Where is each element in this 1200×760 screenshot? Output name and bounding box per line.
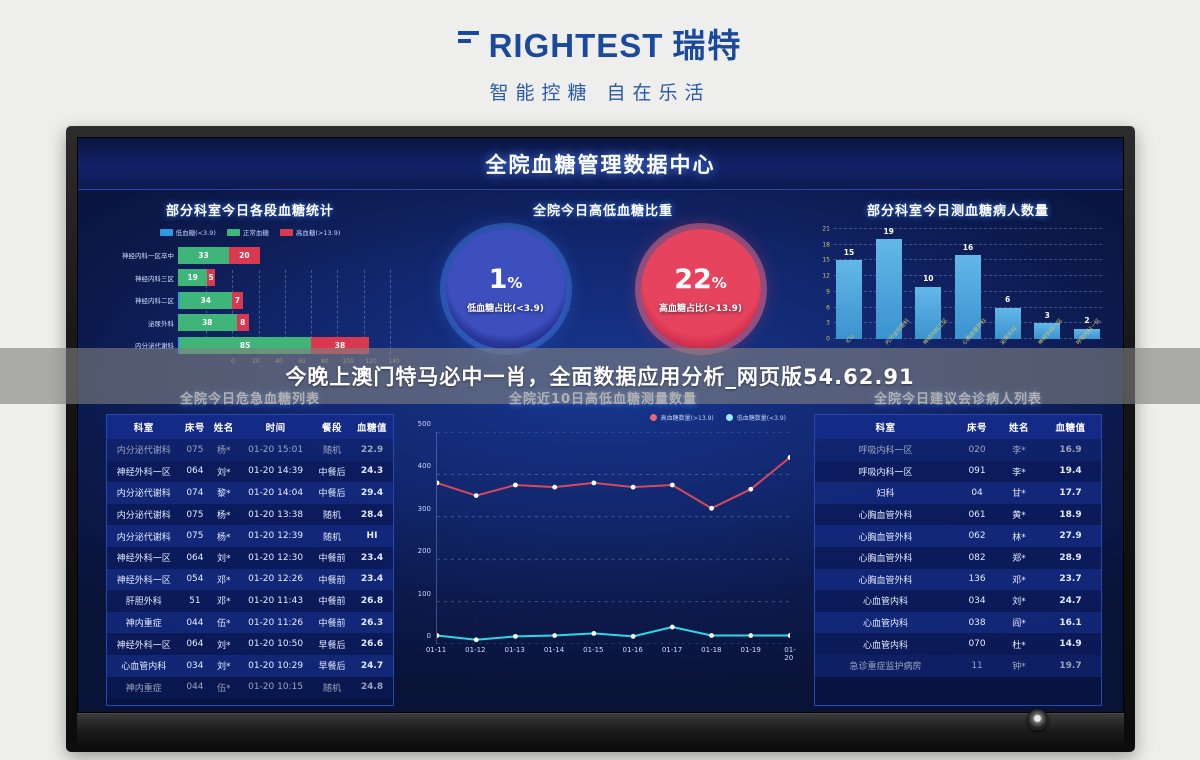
table-cell-meal: 中餐前 xyxy=(313,547,351,569)
table-cell-name: 伍* xyxy=(209,677,238,699)
table-row[interactable]: 内分泌代谢科075杨*01-20 15:01随机22.9 xyxy=(107,439,393,461)
yaxis-tick: 12 xyxy=(822,273,830,280)
line-data-point xyxy=(631,634,636,639)
table-row[interactable]: 神内重症044伍*01-20 11:26中餐前26.3 xyxy=(107,612,393,634)
table-cell-time: 01-20 13:38 xyxy=(238,504,313,526)
bar-value-label: 19 xyxy=(883,227,893,236)
bar-row: 泌尿外科388 xyxy=(106,314,394,332)
line-data-point xyxy=(591,631,596,636)
table-cell-bed: 082 xyxy=(956,547,998,569)
table-cell-value: 24.8 xyxy=(351,677,393,699)
table-cell-value: 23.7 xyxy=(1040,569,1101,591)
table-cell-time: 01-20 10:29 xyxy=(238,655,313,677)
critical-table: 科室床号姓名时间餐段血糖值 内分泌代谢科075杨*01-20 15:01随机22… xyxy=(107,415,393,698)
table-cell-name: 伍* xyxy=(209,612,238,634)
table-cell-meal: 中餐后 xyxy=(313,482,351,504)
table-cell-meal: 中餐前 xyxy=(313,590,351,612)
dashboard-header: 全院血糖管理数据中心 xyxy=(78,138,1123,190)
yaxis-tick: 0 xyxy=(826,336,830,343)
donut-wrapper: 1%低血糖占比(<3.9) xyxy=(446,229,566,349)
table-cell-name: 杜* xyxy=(998,633,1040,655)
watermark-text: 今晚上澳门特马必中一肖，全面数据应用分析_网页版54.62.91 xyxy=(285,361,914,391)
table-cell-time: 01-20 12:39 xyxy=(238,525,313,547)
bar-segment-high: 5 xyxy=(207,269,215,286)
xaxis-tick: 01-11 xyxy=(426,646,446,654)
yaxis-tick: 500 xyxy=(418,420,431,428)
table-row[interactable]: 内分泌代谢科075杨*01-20 13:38随机28.4 xyxy=(107,504,393,526)
table-cell-time: 01-20 12:30 xyxy=(238,547,313,569)
table-row[interactable]: 心血管内科070杜*14.9 xyxy=(815,633,1101,655)
bar-column: 15 xyxy=(836,229,862,339)
table-cell-value: 26.8 xyxy=(351,590,393,612)
table-cell-dept: 内分泌代谢科 xyxy=(107,525,180,547)
bar-segment-normal: 33 xyxy=(178,247,229,264)
table-cell-bed: 074 xyxy=(180,482,209,504)
table-cell-time: 01-20 10:50 xyxy=(238,633,313,655)
table-cell-dept: 肝胆外科 xyxy=(107,590,180,612)
table-row[interactable]: 神经外科一区064刘*01-20 12:30中餐前23.4 xyxy=(107,547,393,569)
dashboard-root: 全院血糖管理数据中心 部分科室今日各段血糖统计 低血糖(<3.9)正常血糖高血糖… xyxy=(78,138,1123,712)
table-cell-meal: 随机 xyxy=(313,677,351,699)
legend-swatch-icon xyxy=(160,229,173,236)
table-cell-value: 16.1 xyxy=(1040,612,1101,634)
consult-table-body: 呼吸内科一区020李*16.9呼吸内科一区091李*19.4妇科04甘*17.7… xyxy=(815,439,1101,677)
table-cell-bed: 136 xyxy=(956,569,998,591)
table-cell-value: 19.4 xyxy=(1040,461,1101,483)
brand-name-cn: 瑞特 xyxy=(672,19,742,67)
table-cell-bed: 054 xyxy=(180,569,209,591)
table-cell-dept: 神内重症 xyxy=(107,677,180,699)
bar-track: 388 xyxy=(178,314,394,331)
line-chart-area xyxy=(436,432,790,644)
table-cell-bed: 044 xyxy=(180,677,209,699)
table-cell-value: 29.4 xyxy=(351,482,393,504)
line-data-point xyxy=(748,633,753,638)
line-data-point xyxy=(552,633,557,638)
table-cell-dept: 神内重症 xyxy=(107,612,180,634)
table-cell-value: 23.4 xyxy=(351,547,393,569)
rightest-logo-icon xyxy=(458,23,480,57)
table-cell-dept: 心血管内科 xyxy=(107,655,180,677)
table-cell-bed: 034 xyxy=(180,655,209,677)
table-cell-dept: 妇科 xyxy=(815,482,956,504)
watermark-overlay-banner: 今晚上澳门特马必中一肖，全面数据应用分析_网页版54.62.91 xyxy=(0,348,1200,404)
table-cell-bed: 51 xyxy=(180,590,209,612)
table-column-header: 餐段 xyxy=(313,415,351,439)
table-row[interactable]: 心血管内科038阎*16.1 xyxy=(815,612,1101,634)
table-cell-meal: 中餐后 xyxy=(313,461,351,483)
tv-screen: 全院血糖管理数据中心 部分科室今日各段血糖统计 低血糖(<3.9)正常血糖高血糖… xyxy=(77,137,1124,713)
table-cell-bed: 064 xyxy=(180,633,209,655)
xaxis-tick: 01-20 xyxy=(784,646,795,662)
consult-table-scroll[interactable]: 科室床号姓名血糖值 呼吸内科一区020李*16.9呼吸内科一区091李*19.4… xyxy=(814,414,1102,706)
table-cell-dept: 神经外科一区 xyxy=(107,461,180,483)
table-cell-dept: 心血管内科 xyxy=(815,633,956,655)
table-row[interactable]: 心胸血管外科061黄*18.9 xyxy=(815,504,1101,526)
tv-bottom-bezel xyxy=(77,713,1124,751)
table-cell-name: 杨* xyxy=(209,504,238,526)
table-cell-bed: 034 xyxy=(956,590,998,612)
table-cell-value: 28.4 xyxy=(351,504,393,526)
yaxis-tick: 200 xyxy=(418,547,431,555)
table-cell-time: 01-20 15:01 xyxy=(238,439,313,461)
line-yaxis: 0100200300400500 xyxy=(408,432,434,644)
table-cell-time: 01-20 10:15 xyxy=(238,677,313,699)
table-cell-value: 28.9 xyxy=(1040,547,1101,569)
table-row[interactable]: 神经外科一区064刘*01-20 14:39中餐后24.3 xyxy=(107,461,393,483)
table-row[interactable]: 呼吸内科一区091李*19.4 xyxy=(815,461,1101,483)
yaxis-tick: 300 xyxy=(418,505,431,513)
bar-segment-high: 7 xyxy=(232,292,243,309)
table-cell-meal: 中餐前 xyxy=(313,612,351,634)
table-cell-name: 钟* xyxy=(998,655,1040,677)
line-data-point xyxy=(474,493,479,498)
panel-title-donut: 全院今日高低血糖比重 xyxy=(408,200,798,219)
right-bar-yaxis: 036912151821 xyxy=(814,229,832,339)
table-cell-dept: 心胸血管外科 xyxy=(815,525,956,547)
table-cell-name: 阎* xyxy=(998,612,1040,634)
table-cell-dept: 呼吸内科一区 xyxy=(815,461,956,483)
bar-column: 6 xyxy=(995,229,1021,339)
left-bar-legend: 低血糖(<3.9)正常血糖高血糖(>13.9) xyxy=(106,227,394,237)
line-data-point xyxy=(670,625,675,630)
table-cell-name: 杨* xyxy=(209,439,238,461)
table-cell-meal: 随机 xyxy=(313,504,351,526)
line-data-point xyxy=(591,480,596,485)
line-data-point xyxy=(437,633,439,638)
table-column-header: 血糖值 xyxy=(1040,415,1101,439)
line-data-point xyxy=(631,485,636,490)
bar-category-label: 神经内科一区卒中 xyxy=(106,250,178,260)
table-column-header: 姓名 xyxy=(209,415,238,439)
table-cell-bed: 075 xyxy=(180,525,209,547)
bar-track: 3320 xyxy=(178,247,394,264)
table-cell-value: 27.9 xyxy=(1040,525,1101,547)
table-row[interactable]: 呼吸内科一区020李*16.9 xyxy=(815,439,1101,461)
panel-department-glucose-stages: 部分科室今日各段血糖统计 低血糖(<3.9)正常血糖高血糖(>13.9) 神经内… xyxy=(106,200,394,372)
table-cell-dept: 心胸血管外科 xyxy=(815,547,956,569)
table-column-header: 姓名 xyxy=(998,415,1040,439)
table-cell-dept: 呼吸内科一区 xyxy=(815,439,956,461)
table-cell-value: 19.7 xyxy=(1040,655,1101,677)
table-cell-name: 刘* xyxy=(209,547,238,569)
table-cell-bed: 11 xyxy=(956,655,998,677)
donut-group: 1%低血糖占比(<3.9)22%高血糖占比(>13.9) xyxy=(408,229,798,349)
critical-table-body: 内分泌代谢科075杨*01-20 15:01随机22.9神经外科一区064刘*0… xyxy=(107,439,393,698)
bar-segment-normal: 38 xyxy=(178,314,237,331)
bar-category-label: 泌尿外科 xyxy=(106,318,178,328)
power-indicator-icon xyxy=(1027,709,1048,730)
legend-label: 高血糖(>13.9) xyxy=(296,227,341,237)
legend-swatch-icon xyxy=(280,229,293,236)
yaxis-tick: 0 xyxy=(427,632,431,640)
table-cell-value: 17.7 xyxy=(1040,482,1101,504)
table-row[interactable]: 肝胆外科51邓*01-20 11:43中餐前26.8 xyxy=(107,590,393,612)
line-data-point xyxy=(748,487,753,492)
table-row[interactable]: 心血管内科034刘*01-20 10:29早餐后24.7 xyxy=(107,655,393,677)
table-cell-dept: 心胸血管外科 xyxy=(815,504,956,526)
yaxis-tick: 21 xyxy=(822,226,830,233)
panel-glucose-ratio: 全院今日高低血糖比重 1%低血糖占比(<3.9)22%高血糖占比(>13.9) xyxy=(408,200,798,372)
line-xaxis: 01-1101-1201-1301-1401-1501-1601-1701-18… xyxy=(436,646,790,662)
donut-caption: 高血糖占比(>13.9) xyxy=(659,301,742,314)
table-cell-name: 邓* xyxy=(209,590,238,612)
yaxis-tick: 15 xyxy=(822,257,830,264)
legend-label: 正常血糖 xyxy=(243,227,269,237)
panel-10day-trend: 全院近10日高低血糖测量数量 高血糖数量(>13.9)低血糖数量(<3.9) 0… xyxy=(408,388,798,708)
table-row[interactable]: 神内重症044伍*01-20 10:15随机24.8 xyxy=(107,677,393,699)
table-column-header: 床号 xyxy=(956,415,998,439)
table-cell-dept: 内分泌代谢科 xyxy=(107,482,180,504)
table-cell-value: 24.7 xyxy=(351,655,393,677)
table-cell-dept: 内分泌代谢科 xyxy=(107,504,180,526)
donut-value: 22% xyxy=(674,264,727,295)
table-cell-value: 16.9 xyxy=(1040,439,1101,461)
table-cell-dept: 神经外科一区 xyxy=(107,547,180,569)
table-cell-name: 刘* xyxy=(209,461,238,483)
table-cell-value: 24.7 xyxy=(1040,590,1101,612)
bar-value-label: 15 xyxy=(844,248,854,257)
legend-label: 高血糖数量(>13.9) xyxy=(661,413,714,422)
table-cell-time: 01-20 11:43 xyxy=(238,590,313,612)
table-cell-value: 24.3 xyxy=(351,461,393,483)
donut-chart: 1%低血糖占比(<3.9) xyxy=(446,229,566,349)
table-cell-time: 01-20 14:04 xyxy=(238,482,313,504)
table-cell-name: 郑* xyxy=(998,547,1040,569)
table-cell-value: 23.4 xyxy=(351,569,393,591)
table-row[interactable]: 心血管内科034刘*24.7 xyxy=(815,590,1101,612)
panel-title-left-bar: 部分科室今日各段血糖统计 xyxy=(106,200,394,219)
line-series-path xyxy=(437,457,790,508)
table-cell-value: 22.9 xyxy=(351,439,393,461)
table-cell-value: 26.6 xyxy=(351,633,393,655)
table-row[interactable]: 心胸血管外科062林*27.9 xyxy=(815,525,1101,547)
xaxis-tick: 01-14 xyxy=(544,646,564,654)
legend-item: 正常血糖 xyxy=(227,227,269,237)
table-cell-name: 李* xyxy=(998,461,1040,483)
xaxis-tick: 01-17 xyxy=(662,646,682,654)
donut-caption: 低血糖占比(<3.9) xyxy=(467,301,544,314)
xaxis-tick: 01-16 xyxy=(622,646,642,654)
legend-item: 低血糖(<3.9) xyxy=(160,227,216,237)
brand-logo: RIGHTEST 瑞特 xyxy=(458,19,743,67)
bar-row: 神经内科一区卒中3320 xyxy=(106,246,394,264)
line-legend: 高血糖数量(>13.9)低血糖数量(<3.9) xyxy=(408,413,786,422)
table-cell-dept: 神经外科一区 xyxy=(107,569,180,591)
bar-track: 195 xyxy=(178,269,394,286)
table-cell-bed: 070 xyxy=(956,633,998,655)
donut-wrapper: 22%高血糖占比(>13.9) xyxy=(641,229,761,349)
table-cell-dept: 心血管内科 xyxy=(815,612,956,634)
table-cell-value: 18.9 xyxy=(1040,504,1101,526)
table-cell-bed: 061 xyxy=(956,504,998,526)
table-cell-bed: 075 xyxy=(180,439,209,461)
bar-row: 神经内科二区347 xyxy=(106,291,394,309)
line-data-point xyxy=(670,483,675,488)
bar-category-label: 神经内科三区 xyxy=(106,273,178,283)
legend-dot-icon xyxy=(726,414,733,421)
bar-value-label: 6 xyxy=(1005,295,1010,304)
line-data-point xyxy=(513,634,518,639)
legend-swatch-icon xyxy=(227,229,240,236)
panel-department-patient-count: 部分科室今日测血糖病人数量 036912151821 15191016632 I… xyxy=(814,200,1102,372)
panel-title-right-bar: 部分科室今日测血糖病人数量 xyxy=(814,200,1102,219)
line-data-point xyxy=(474,637,479,642)
table-cell-bed: 044 xyxy=(180,612,209,634)
legend-item: 低血糖数量(<3.9) xyxy=(726,413,786,422)
table-row[interactable]: 内分泌代谢科075杨*01-20 12:39随机HI xyxy=(107,525,393,547)
yaxis-tick: 9 xyxy=(826,288,830,295)
table-cell-name: 杨* xyxy=(209,525,238,547)
table-cell-bed: 064 xyxy=(180,547,209,569)
consult-table: 科室床号姓名血糖值 呼吸内科一区020李*16.9呼吸内科一区091李*19.4… xyxy=(815,415,1101,677)
table-cell-value: 14.9 xyxy=(1040,633,1101,655)
table-cell-name: 甘* xyxy=(998,482,1040,504)
table-row[interactable]: 急诊重症监护病房11钟*19.7 xyxy=(815,655,1101,677)
bar-segment-normal: 34 xyxy=(180,292,232,309)
line-chart-svg xyxy=(437,432,790,644)
line-data-point xyxy=(709,633,714,638)
yaxis-tick: 400 xyxy=(418,462,431,470)
table-column-header: 科室 xyxy=(815,415,956,439)
table-cell-name: 刘* xyxy=(209,655,238,677)
table-cell-name: 黄* xyxy=(998,504,1040,526)
panel-consultation-list: 全院今日建议会诊病人列表 科室床号姓名血糖值 呼吸内科一区020李*16.9呼吸… xyxy=(814,388,1102,708)
dashboard-title: 全院血糖管理数据中心 xyxy=(486,149,716,179)
bar-value-label: 10 xyxy=(923,274,933,283)
bar-segment-normal: 19 xyxy=(178,269,207,286)
table-cell-bed: 091 xyxy=(956,461,998,483)
table-cell-name: 邓* xyxy=(998,569,1040,591)
table-cell-dept: 心血管内科 xyxy=(815,590,956,612)
table-cell-meal: 随机 xyxy=(313,439,351,461)
yaxis-tick: 6 xyxy=(826,304,830,311)
yaxis-tick: 100 xyxy=(418,590,431,598)
legend-item: 高血糖(>13.9) xyxy=(280,227,341,237)
table-row[interactable]: 心胸血管外科082郑*28.9 xyxy=(815,547,1101,569)
legend-label: 低血糖(<3.9) xyxy=(176,227,216,237)
table-header-row: 科室床号姓名时间餐段血糖值 xyxy=(107,415,393,439)
line-data-point xyxy=(709,506,714,511)
line-plot: 0100200300400500 01-1101-1201-1301-1401-… xyxy=(408,432,798,662)
table-cell-meal: 随机 xyxy=(313,525,351,547)
table-cell-name: 林* xyxy=(998,525,1040,547)
left-bar-plot: 神经内科一区卒中3320神经内科三区195神经内科二区347泌尿外科388内分泌… xyxy=(106,246,394,358)
panel-critical-glucose-list: 全院今日危急血糖列表 科室床号姓名时间餐段血糖值 内分泌代谢科075杨*01-2… xyxy=(106,388,394,708)
line-data-point xyxy=(513,483,518,488)
donut-chart: 22%高血糖占比(>13.9) xyxy=(641,229,761,349)
donut-value: 1% xyxy=(489,264,523,295)
line-data-point xyxy=(552,485,557,490)
table-cell-value: 26.3 xyxy=(351,612,393,634)
table-row[interactable]: 神经外科一区054邓*01-20 12:26中餐前23.4 xyxy=(107,569,393,591)
table-cell-bed: 075 xyxy=(180,504,209,526)
critical-table-scroll[interactable]: 科室床号姓名时间餐段血糖值 内分泌代谢科075杨*01-20 15:01随机22… xyxy=(106,414,394,706)
table-column-header: 科室 xyxy=(107,415,180,439)
table-cell-dept: 急诊重症监护病房 xyxy=(815,655,956,677)
bar-category-label: 神经内科二区 xyxy=(106,295,178,305)
table-cell-bed: 038 xyxy=(956,612,998,634)
table-row[interactable]: 神经外科一区064刘*01-20 10:50早餐后26.6 xyxy=(107,633,393,655)
table-cell-name: 刘* xyxy=(209,633,238,655)
table-cell-meal: 早餐后 xyxy=(313,633,351,655)
line-series-path xyxy=(437,627,790,640)
table-cell-name: 刘* xyxy=(998,590,1040,612)
table-row[interactable]: 内分泌代谢科074黎*01-20 14:04中餐后29.4 xyxy=(107,482,393,504)
table-cell-value: HI xyxy=(351,525,393,547)
line-data-point xyxy=(788,633,790,638)
xaxis-tick: 01-19 xyxy=(740,646,760,654)
bar-value-label: 16 xyxy=(963,243,973,252)
table-cell-time: 01-20 14:39 xyxy=(238,461,313,483)
table-column-header: 血糖值 xyxy=(351,415,393,439)
table-cell-dept: 内分泌代谢科 xyxy=(107,439,180,461)
table-row[interactable]: 妇科04甘*17.7 xyxy=(815,482,1101,504)
table-cell-name: 邓* xyxy=(209,569,238,591)
bar-fill xyxy=(836,260,862,339)
xaxis-tick: 01-12 xyxy=(465,646,485,654)
table-column-header: 床号 xyxy=(180,415,209,439)
table-cell-name: 黎* xyxy=(209,482,238,504)
table-cell-time: 01-20 12:26 xyxy=(238,569,313,591)
brand-name-en: RIGHTEST xyxy=(489,27,664,65)
bar-track: 347 xyxy=(178,292,394,309)
xaxis-tick: 01-18 xyxy=(701,646,721,654)
table-row[interactable]: 心胸血管外科136邓*23.7 xyxy=(815,569,1101,591)
table-cell-dept: 神经外科一区 xyxy=(107,633,180,655)
table-cell-time: 01-20 11:26 xyxy=(238,612,313,634)
bar-segment-high: 20 xyxy=(229,247,260,264)
brand-header: RIGHTEST 瑞特 智能控糖 自在乐活 xyxy=(0,0,1200,124)
table-cell-meal: 中餐前 xyxy=(313,569,351,591)
table-cell-bed: 020 xyxy=(956,439,998,461)
table-cell-bed: 062 xyxy=(956,525,998,547)
legend-label: 低血糖数量(<3.9) xyxy=(737,413,786,422)
table-cell-meal: 早餐后 xyxy=(313,655,351,677)
table-cell-bed: 064 xyxy=(180,461,209,483)
table-cell-dept: 心胸血管外科 xyxy=(815,569,956,591)
table-cell-bed: 04 xyxy=(956,482,998,504)
legend-dot-icon xyxy=(650,414,657,421)
yaxis-tick: 3 xyxy=(826,320,830,327)
brand-tagline: 智能控糖 自在乐活 xyxy=(489,78,710,105)
xaxis-tick: 01-13 xyxy=(504,646,524,654)
bar-segment-high: 8 xyxy=(237,314,249,331)
bar-column: 19 xyxy=(876,229,902,339)
yaxis-tick: 18 xyxy=(822,241,830,248)
xaxis-tick: 01-15 xyxy=(583,646,603,654)
tv-display-frame: 全院血糖管理数据中心 部分科室今日各段血糖统计 低血糖(<3.9)正常血糖高血糖… xyxy=(66,126,1135,752)
table-column-header: 时间 xyxy=(238,415,313,439)
bar-value-label: 3 xyxy=(1045,311,1050,320)
legend-item: 高血糖数量(>13.9) xyxy=(650,413,714,422)
table-header-row: 科室床号姓名血糖值 xyxy=(815,415,1101,439)
left-bar-rows: 神经内科一区卒中3320神经内科三区195神经内科二区347泌尿外科388内分泌… xyxy=(106,246,394,354)
bar-row: 神经内科三区195 xyxy=(106,269,394,287)
table-cell-name: 李* xyxy=(998,439,1040,461)
